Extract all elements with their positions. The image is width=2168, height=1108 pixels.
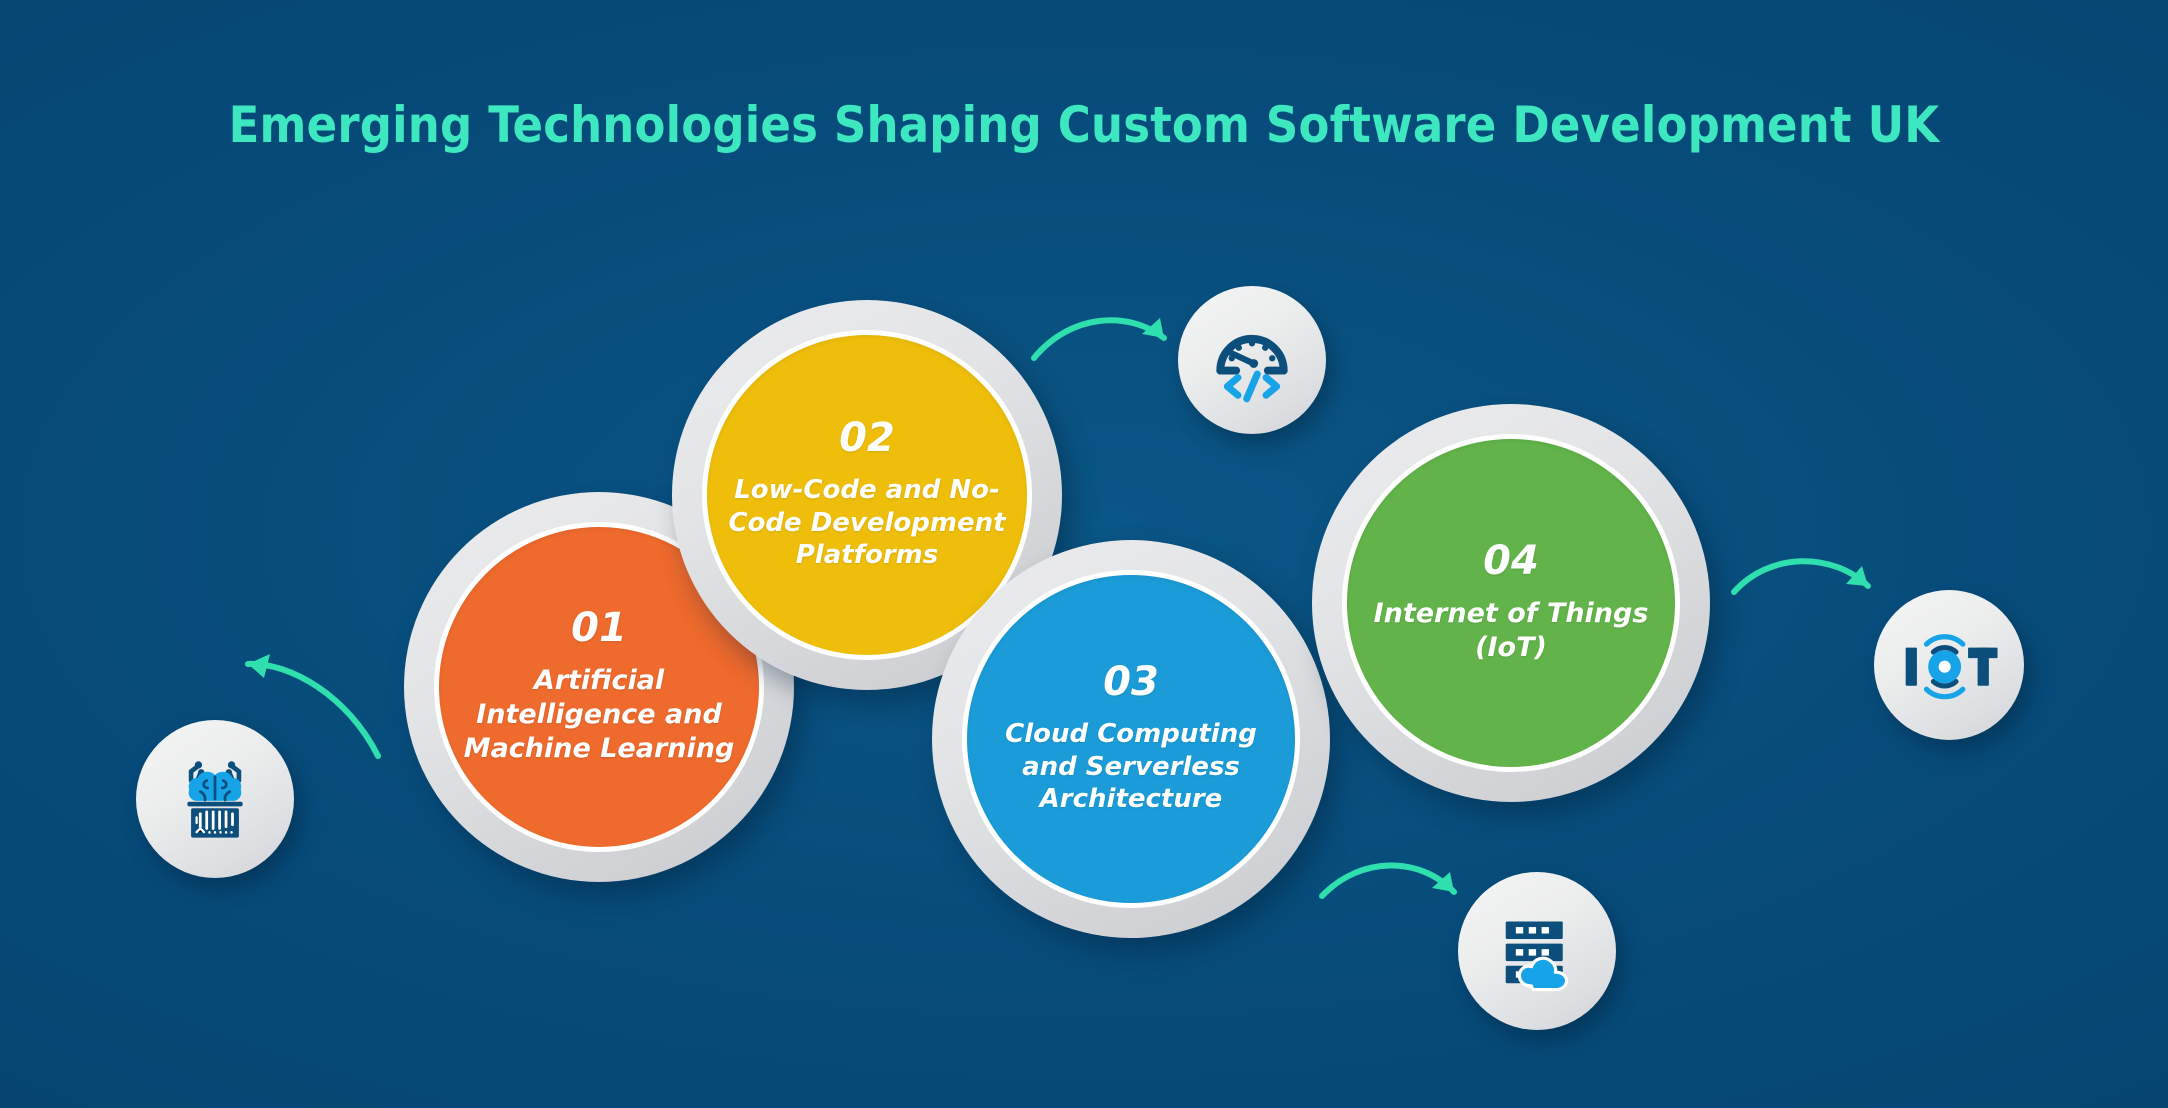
node-circle-04[interactable]: 04 Internet of Things (IoT) [1312, 404, 1710, 802]
node-04-number: 04 [1483, 541, 1539, 581]
badge-ai[interactable] [136, 720, 294, 878]
node-03-fill: 03 Cloud Computing and Serverless Archit… [962, 570, 1300, 908]
node-03-number: 03 [1103, 662, 1159, 702]
arrow-node-02-to-code-badge [1008, 296, 1198, 406]
arrow-node-04-to-iot-badge [1712, 548, 1902, 658]
node-02-label: Low-Code and No-Code Development Platfor… [707, 474, 1027, 572]
badge-code[interactable] [1178, 286, 1326, 434]
node-01-number: 01 [571, 608, 627, 648]
node-03-label: Cloud Computing and Serverless Architect… [967, 718, 1295, 816]
node-04-label: Internet of Things (IoT) [1347, 597, 1675, 665]
node-circle-03[interactable]: 03 Cloud Computing and Serverless Archit… [932, 540, 1330, 938]
node-04-fill: 04 Internet of Things (IoT) [1342, 434, 1680, 772]
ai-chip-brain-icon [169, 753, 261, 845]
page-title: Emerging Technologies Shaping Custom Sof… [0, 96, 2168, 154]
code-gauge-icon [1208, 316, 1296, 404]
node-02-number: 02 [839, 418, 895, 458]
badge-cloud[interactable] [1458, 872, 1616, 1030]
iot-icon [1897, 613, 2001, 717]
node-01-label: Artificial Intelligence and Machine Lear… [439, 664, 759, 766]
server-cloud-icon [1491, 905, 1583, 997]
badge-iot[interactable] [1874, 590, 2024, 740]
infographic-canvas: Emerging Technologies Shaping Custom Sof… [0, 0, 2168, 1108]
